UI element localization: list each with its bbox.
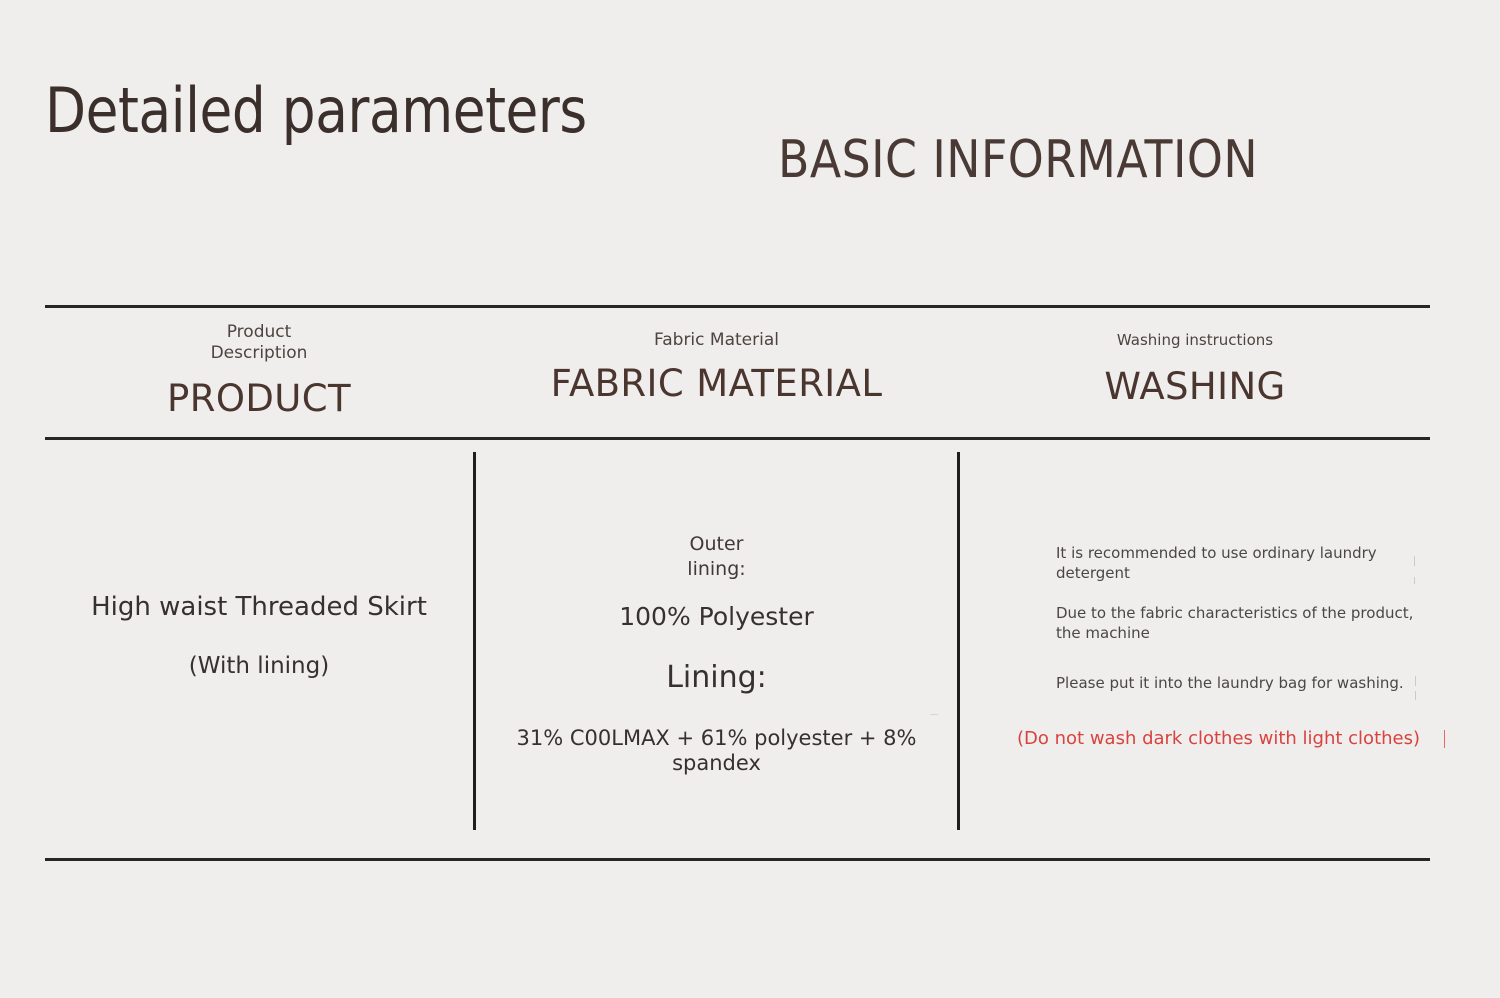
fabric-lining-value: 31% C00LMAX + 61% polyester + 8% spandex [476,726,957,776]
washing-instruction-1: It is recommended to use ordinary laundr… [1056,544,1428,584]
edge-artifact [1414,577,1415,584]
column-body-product: High waist Threaded Skirt (With lining) [45,452,473,830]
edge-artifact [1414,556,1415,566]
table-bottom-rule [45,858,1430,861]
column-title-product: PRODUCT [45,380,473,417]
edge-artifact [1415,691,1416,700]
fabric-outer-label: Outer lining: [476,532,957,581]
washing-warning: (Do not wash dark clothes with light clo… [1017,727,1437,750]
washing-instruction-3: Please put it into the laundry bag for w… [1056,674,1428,694]
column-body-washing: It is recommended to use ordinary laundr… [960,452,1460,830]
column-title-washing: WASHING [960,368,1430,405]
page-title: Detailed parameters [45,80,587,142]
product-name: High waist Threaded Skirt [45,592,473,623]
product-note: (With lining) [45,653,473,681]
page-subtitle: BASIC INFORMATION [778,134,1258,186]
detailed-parameters-page: Detailed parameters BASIC INFORMATION Pr… [0,0,1500,998]
column-kicker-fabric: Fabric Material [476,330,957,351]
washing-instruction-2: Due to the fabric characteristics of the… [1056,604,1428,644]
column-header-fabric: Fabric Material FABRIC MATERIAL [476,330,957,402]
column-header-washing: Washing instructions WASHING [960,331,1430,405]
edge-artifact [1415,676,1416,686]
column-kicker-washing: Washing instructions [960,331,1430,350]
table-header-rule [45,437,1430,440]
column-body-fabric: Outer lining: 100% Polyester Lining: 31%… [476,452,957,830]
fabric-lining-label: Lining: [476,660,957,696]
column-kicker-product: Product Description [45,322,473,364]
fabric-outer-value: 100% Polyester [476,602,957,632]
edge-artifact-dot [930,714,938,715]
edge-artifact-red [1444,730,1445,748]
column-title-fabric: FABRIC MATERIAL [476,365,957,402]
table-top-rule [45,305,1430,308]
column-header-product: Product Description PRODUCT [45,322,473,417]
